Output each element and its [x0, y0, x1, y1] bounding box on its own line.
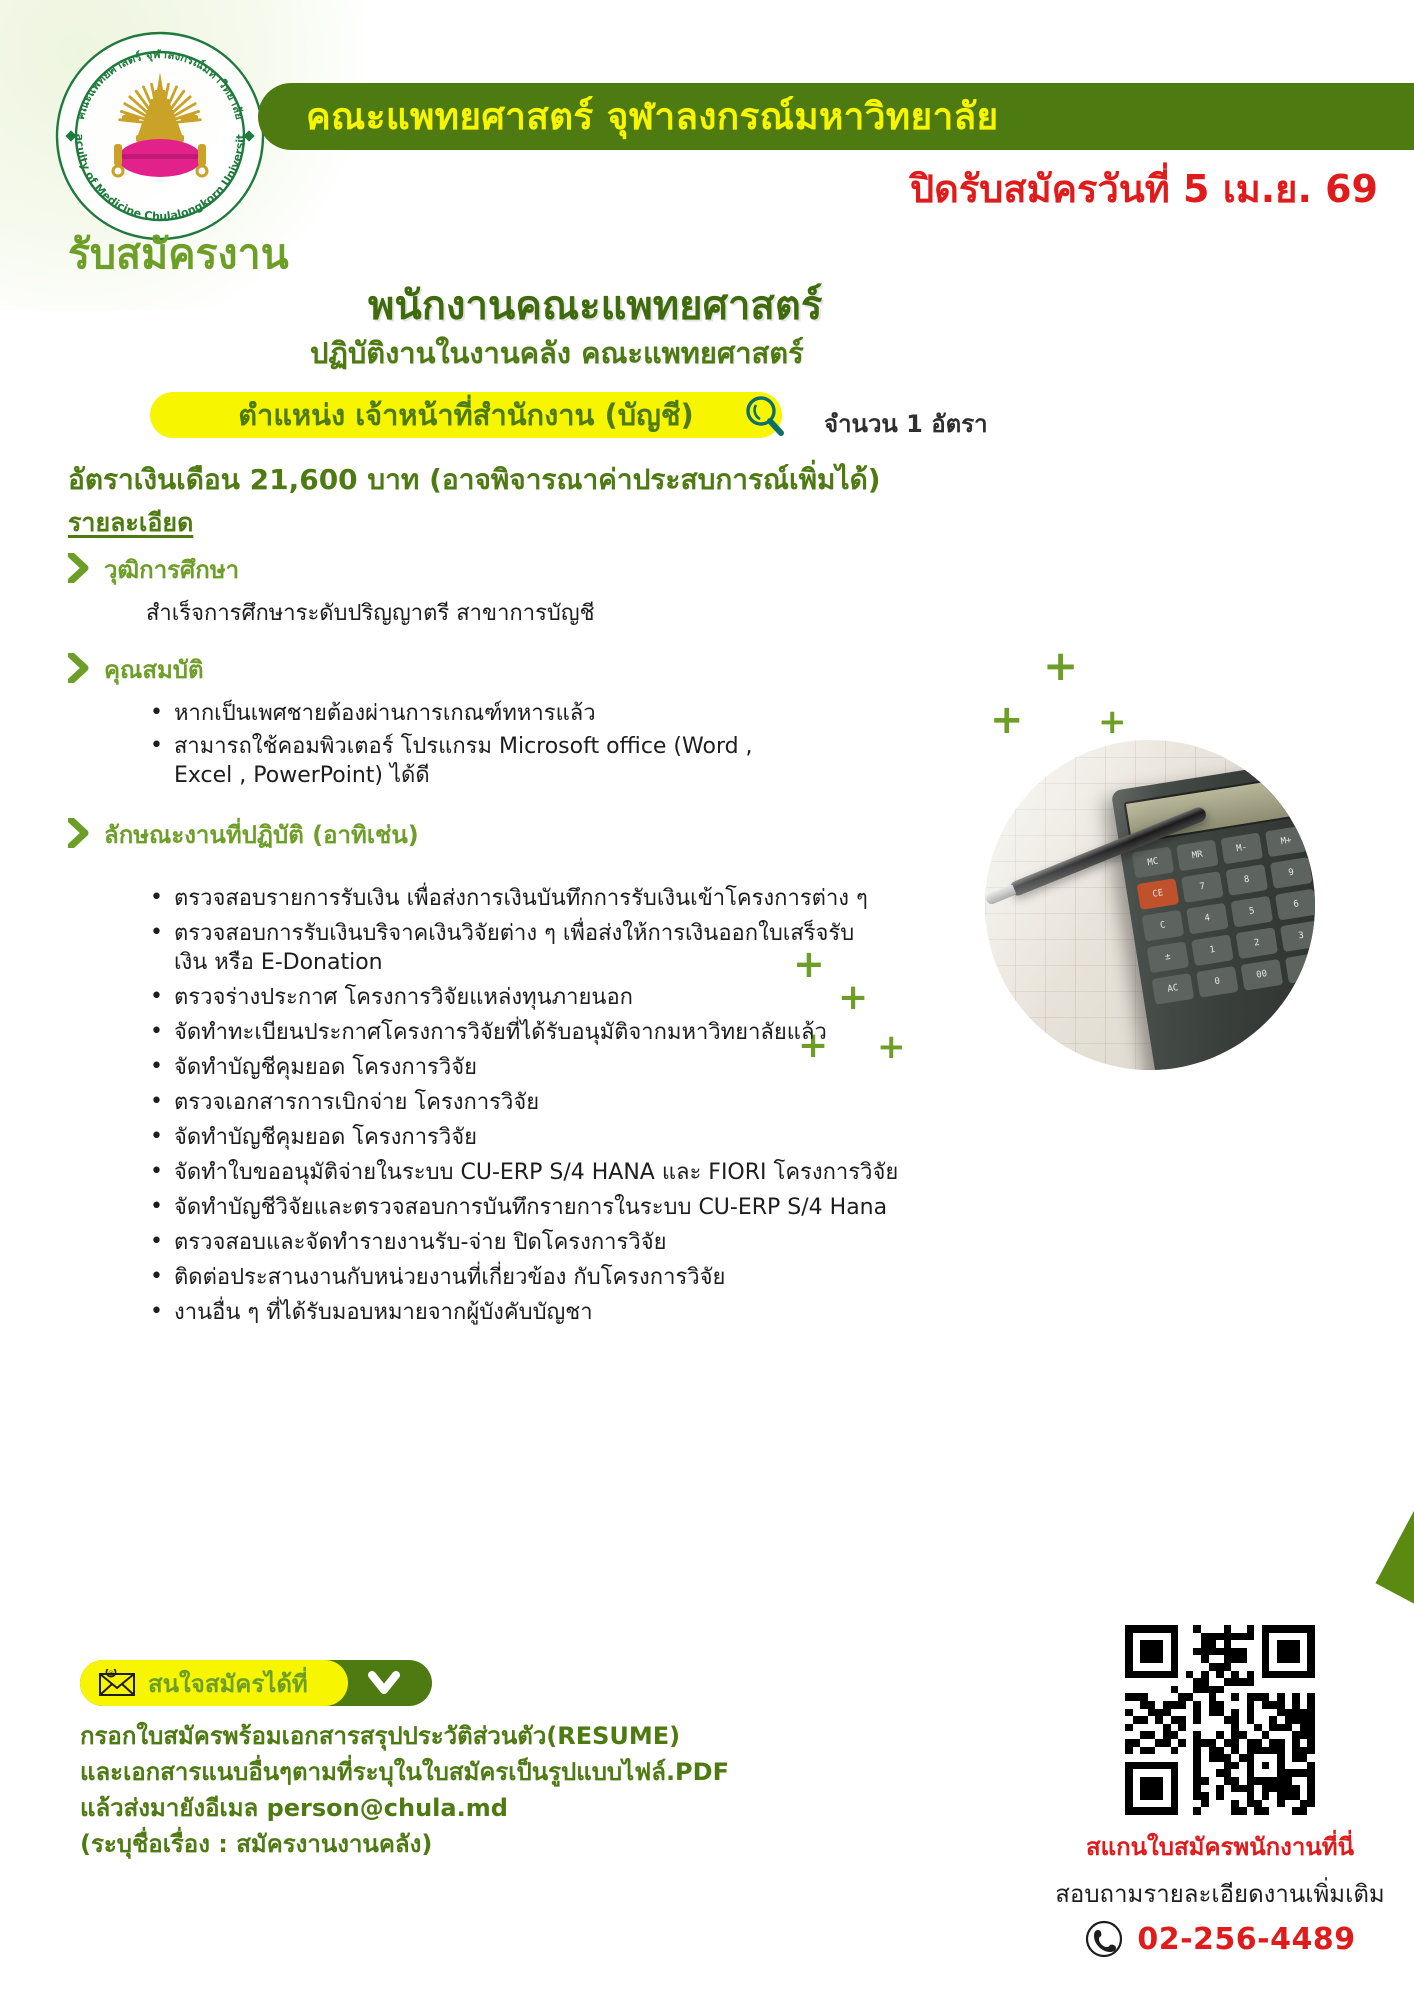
section-label: คุณสมบัติ: [104, 650, 204, 689]
faculty-name-text: คณะแพทยศาสตร์ จุฬาลงกรณ์มหาวิทยาลัย: [306, 87, 999, 146]
position-pill: ตำแหน่ง เจ้าหน้าที่สำนักงาน (บัญชี): [150, 392, 782, 438]
list-item: ตรวจสอบรายการรับเงิน เพื่อส่งการเงินบันท…: [144, 884, 898, 913]
section-label: วุฒิการศึกษา: [104, 550, 239, 589]
job-title-main: พนักงานคณะแพทยศาสตร์: [368, 273, 822, 337]
chevron-down-icon[interactable]: [368, 1668, 400, 1698]
list-item: จัดทำทะเบียนประกาศโครงการวิจัยที่ได้รับอ…: [144, 1018, 898, 1047]
chulalongkorn-faculty-of-medicine-logo: คณะแพทยศาสตร์ จุฬาลงกรณ์มหาวิทยาลัย Facu…: [52, 28, 268, 244]
calculator-and-pen-photo: MCMRM-M+ CE789 C456 ±123 AC000=: [985, 740, 1315, 1070]
position-count: จำนวน 1 อัตรา: [824, 404, 988, 443]
chevron-right-icon: [68, 818, 90, 848]
section-duties: ลักษณะงานที่ปฏิบัติ (อาทิเช่น) ตรวจสอบรา…: [68, 815, 898, 1333]
salary-text: อัตราเงินเดือน 21,600 บาท (อาจพิจารณาค่า…: [68, 458, 881, 502]
education-requirement-text: สำเร็จการศึกษาระดับปริญญาตรี สาขาการบัญช…: [146, 595, 595, 630]
list-item: ติดต่อประสานงานกับหน่วยงานที่เกี่ยวข้อง …: [144, 1263, 898, 1292]
section-education: วุฒิการศึกษา สำเร็จการศึกษาระดับปริญญาตร…: [68, 550, 595, 630]
section-label: ลักษณะงานที่ปฏิบัติ (อาทิเช่น): [104, 815, 419, 854]
qr-contact-block: สแกนใบสมัครพนักงานที่นี่ สอบถามรายละเอีย…: [1030, 1625, 1410, 1959]
details-heading: รายละเอียด: [68, 503, 193, 543]
chevron-right-icon: [68, 653, 90, 683]
apply-instructions: กรอกใบสมัครพร้อมเอกสารสรุปประวัติส่วนตัว…: [80, 1718, 729, 1862]
plus-decoration-icon: +: [1098, 705, 1127, 739]
list-item: จัดทำใบขออนุมัติจ่ายในระบบ CU-ERP S/4 HA…: [144, 1158, 898, 1187]
apply-line-3: แล้วส่งมายังอีเมล person@chula.md: [80, 1790, 729, 1826]
phone-icon: [1084, 1919, 1124, 1959]
section-qualifications: คุณสมบัติ หากเป็นเพศชายต้องผ่านการเกณฑ์ท…: [68, 650, 804, 794]
qr-code-icon[interactable]: [1125, 1625, 1315, 1815]
list-item: สามารถใช้คอมพิวเตอร์ โปรแกรม Microsoft o…: [144, 732, 804, 790]
qr-caption: สแกนใบสมัครพนักงานที่นี่: [1030, 1827, 1410, 1866]
list-item: จัดทำบัญชีคุมยอด โครงการวิจัย: [144, 1123, 898, 1152]
apply-pill-label: สนใจสมัครได้ที่: [148, 1664, 308, 1703]
apply-pill[interactable]: @ สนใจสมัครได้ที่: [80, 1660, 432, 1706]
application-deadline-text: ปิดรับสมัครวันที่ 5 เม.ย. 69: [910, 158, 1378, 219]
duties-list: ตรวจสอบรายการรับเงิน เพื่อส่งการเงินบันท…: [144, 884, 898, 1327]
list-item: ตรวจร่างประกาศ โครงการวิจัยแหล่งทุนภายนอ…: [144, 983, 898, 1012]
list-item: หากเป็นเพศชายต้องผ่านการเกณฑ์ทหารแล้ว: [144, 699, 804, 728]
apply-line-2: และเอกสารแนบอื่นๆตามที่ระบุในใบสมัครเป็น…: [80, 1754, 729, 1790]
list-item: ตรวจเอกสารการเบิกจ่าย โครงการวิจัย: [144, 1088, 898, 1117]
list-item: ตรวจสอบและจัดทำรายงานรับ-จ่าย ปิดโครงการ…: [144, 1228, 898, 1257]
recruit-title: รับสมัครงาน: [68, 222, 289, 287]
chevron-right-icon: [68, 553, 90, 583]
svg-text:@: @: [108, 1670, 114, 1676]
phone-number: 02-256-4489: [1137, 1922, 1355, 1957]
list-item: จัดทำบัญชีคุมยอด โครงการวิจัย: [144, 1053, 898, 1082]
envelope-at-icon: @: [98, 1669, 136, 1697]
list-item: จัดทำบัญชีวิจัยและตรวจสอบการบันทึกรายการ…: [144, 1193, 898, 1222]
qualifications-list: หากเป็นเพศชายต้องผ่านการเกณฑ์ทหารแล้ว สา…: [144, 699, 804, 790]
faculty-header-bar: คณะแพทยศาสตร์ จุฬาลงกรณ์มหาวิทยาลัย: [258, 83, 1414, 150]
position-label: ตำแหน่ง เจ้าหน้าที่สำนักงาน (บัญชี): [238, 392, 694, 438]
job-title-sub: ปฏิบัติงานในงานคลัง คณะแพทยศาสตร์: [310, 330, 804, 376]
plus-decoration-icon: +: [990, 700, 1024, 740]
apply-line-1: กรอกใบสมัครพร้อมเอกสารสรุปประวัติส่วนตัว…: [80, 1718, 729, 1754]
search-icon: [736, 392, 796, 438]
apply-line-4: (ระบุชื่อเรื่อง : สมัครงานงานคลัง): [80, 1826, 729, 1862]
ask-more-text: สอบถามรายละเอียดงานเพิ่มเติม: [1030, 1874, 1410, 1913]
list-item: งานอื่น ๆ ที่ได้รับมอบหมายจากผู้บังคับบั…: [144, 1298, 898, 1327]
list-item: ตรวจสอบการรับเงินบริจาคเงินวิจัยต่าง ๆ เ…: [144, 919, 864, 977]
plus-decoration-icon: +: [1043, 645, 1078, 687]
